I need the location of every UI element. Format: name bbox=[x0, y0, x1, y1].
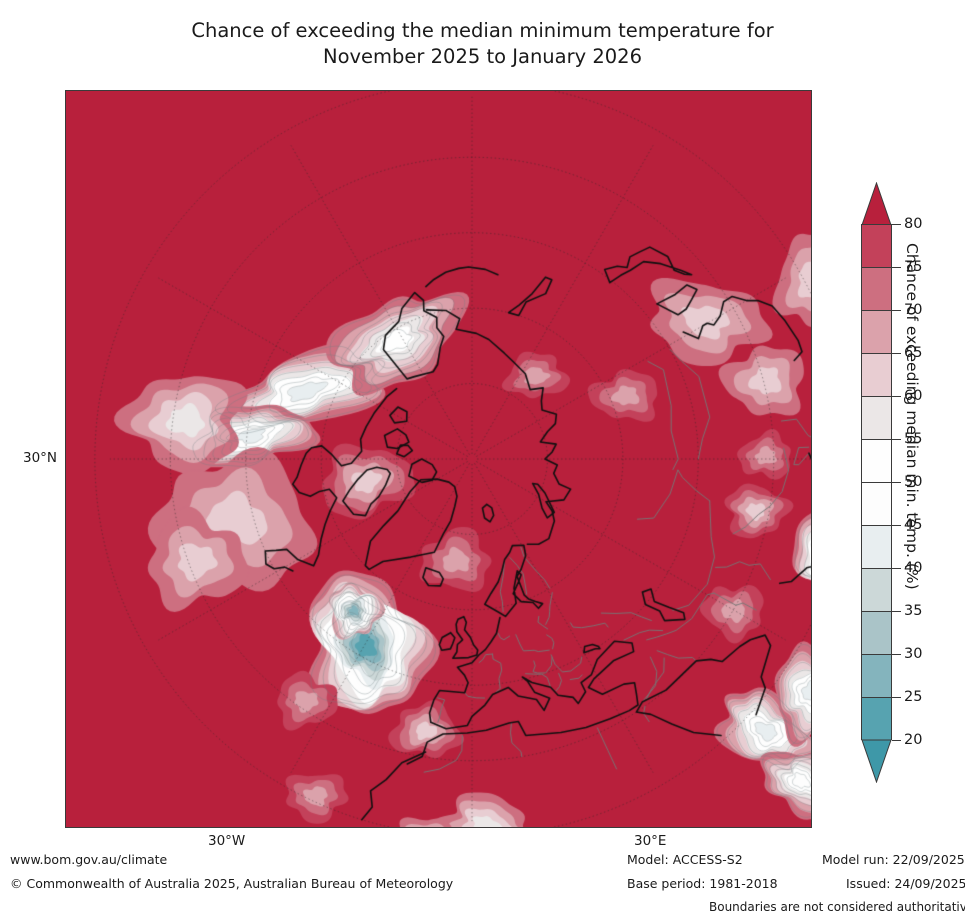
colorbar-band bbox=[862, 569, 891, 612]
colorbar-band bbox=[862, 397, 891, 440]
page-title: Chance of exceeding the median minimum t… bbox=[0, 18, 965, 71]
colorbar-band bbox=[862, 311, 891, 354]
map-raster bbox=[66, 91, 811, 827]
colorbar-band bbox=[862, 354, 891, 397]
colorbar-band bbox=[862, 698, 891, 741]
axis-label-lon-30e: 30°E bbox=[634, 833, 666, 849]
axis-label-lat-30n: 30°N bbox=[23, 450, 57, 466]
colorbar-band bbox=[862, 440, 891, 483]
title-line-2: November 2025 to January 2026 bbox=[0, 44, 965, 70]
footer-model: Model: ACCESS-S2 bbox=[627, 852, 743, 867]
axis-label-lon-30w: 30°W bbox=[208, 833, 245, 849]
footer-copyright: © Commonwealth of Australia 2025, Austra… bbox=[10, 876, 453, 891]
colorbar-band bbox=[862, 612, 891, 655]
colorbar-body bbox=[861, 224, 892, 740]
colorbar-axis-label: Chance of exceeding median min. temp. (%… bbox=[895, 243, 921, 763]
colorbar-tick-mark bbox=[892, 224, 901, 225]
map-plot-area[interactable] bbox=[65, 90, 812, 828]
colorbar-band bbox=[862, 526, 891, 569]
colorbar-extend-bottom-arrow bbox=[861, 739, 892, 783]
footer-boundaries-disclaimer: Boundaries are not considered authoritat… bbox=[709, 900, 965, 914]
footer-website-url[interactable]: www.bom.gov.au/climate bbox=[10, 852, 167, 867]
colorbar-band bbox=[862, 225, 891, 268]
colorbar-band bbox=[862, 483, 891, 526]
footer-issued-date: Issued: 24/09/2025 bbox=[846, 876, 965, 891]
colorbar-band bbox=[862, 655, 891, 698]
colorbar-tick-label: 80 bbox=[904, 216, 922, 232]
colorbar-band bbox=[862, 268, 891, 311]
footer-model-run: Model run: 22/09/2025 bbox=[822, 852, 965, 867]
title-line-1: Chance of exceeding the median minimum t… bbox=[0, 18, 965, 44]
footer-base-period: Base period: 1981-2018 bbox=[627, 876, 778, 891]
colorbar-extend-top-arrow bbox=[861, 182, 892, 226]
